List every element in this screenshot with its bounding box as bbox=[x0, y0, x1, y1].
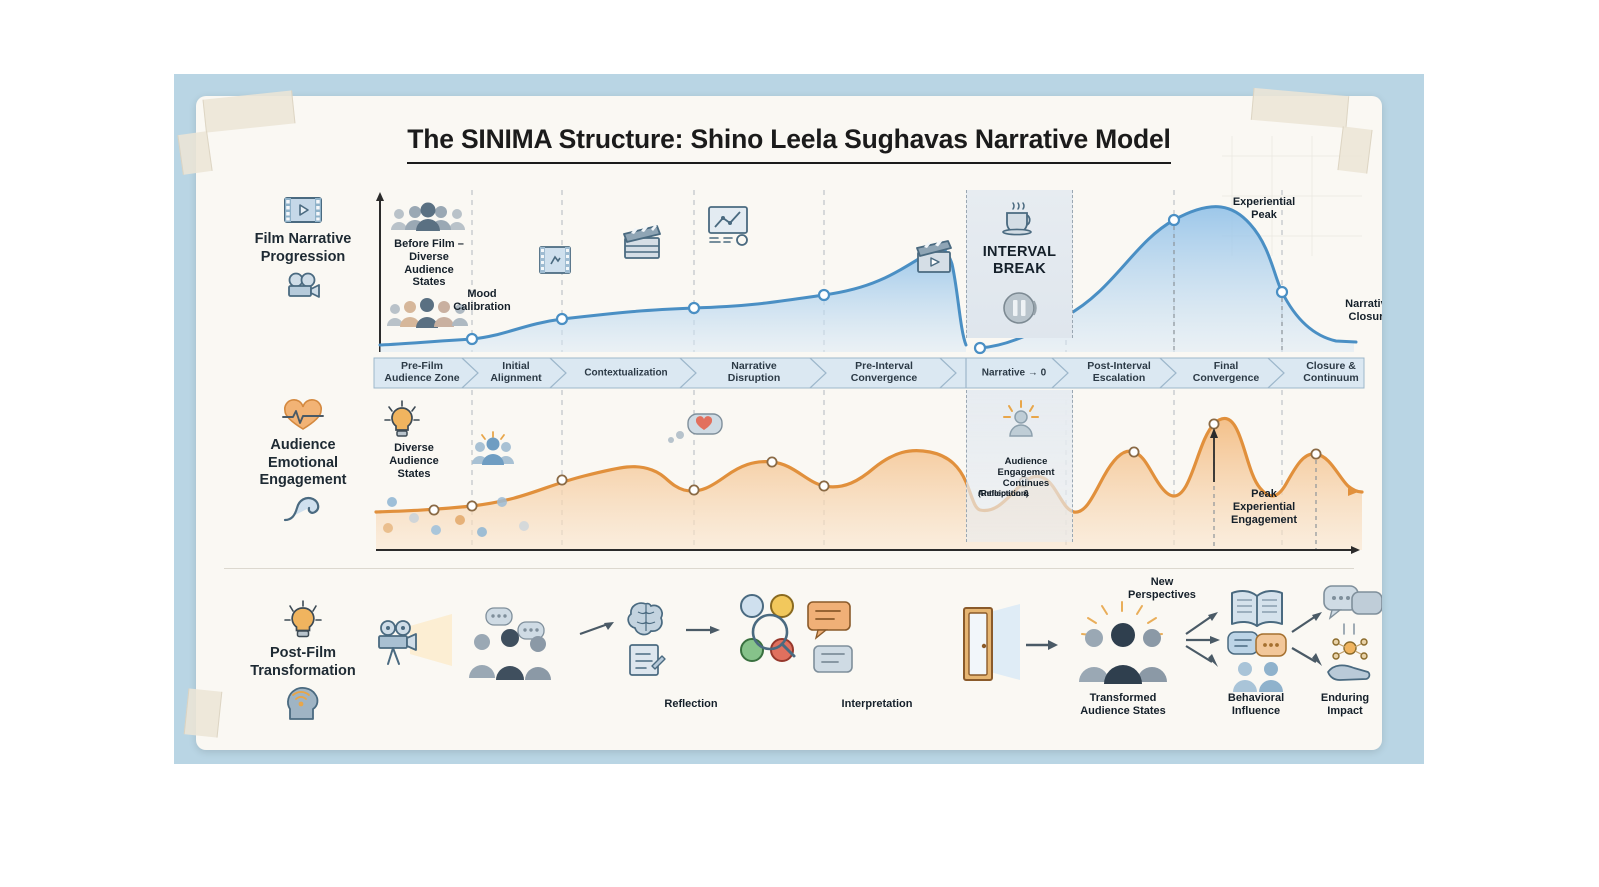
coffee-cup-icon bbox=[1000, 200, 1040, 236]
people-group-icon bbox=[389, 204, 467, 234]
reflection-label: Reflection bbox=[626, 698, 756, 711]
wave-icon bbox=[282, 495, 324, 525]
narrative-closure-annotation: Narrative Closure bbox=[1314, 298, 1382, 324]
door-icon bbox=[956, 600, 1026, 688]
chat-pair-icon bbox=[1226, 628, 1288, 660]
person-glow-icon bbox=[1002, 400, 1040, 438]
interpretation-label: Interpretation bbox=[804, 698, 950, 711]
arrow-icon bbox=[1024, 632, 1062, 658]
sidebar-film-narrative-label: Film Narrative Progression bbox=[218, 231, 388, 266]
audience-engagement-continues-annotation: Audience Engagement Continues (Reflectio… bbox=[978, 456, 1074, 489]
lightbulb-icon bbox=[384, 400, 420, 440]
phase-label-narrative-zero-1: Narrative → 0 bbox=[966, 367, 1062, 378]
row-film-narrative-progression: Film Narrative Progression bbox=[196, 176, 1382, 388]
enduring-narrative-impact-label: Enduring Narrative Impact & Personal Int… bbox=[1380, 692, 1382, 718]
interval-break-panel: INTERVAL BREAK bbox=[966, 190, 1073, 338]
hand-idea-icon bbox=[1324, 622, 1380, 684]
sidebar-post-film-transformation: Post-Film Transformation bbox=[218, 600, 388, 721]
transformed-audience-icon bbox=[1068, 602, 1178, 688]
clapperboard-play-icon bbox=[914, 238, 956, 276]
clapperboard-icon bbox=[621, 222, 665, 262]
new-perspectives-label: New Perspectives bbox=[1102, 576, 1222, 602]
sidebar-film-narrative: Film Narrative Progression bbox=[218, 194, 388, 301]
analytics-chart-icon bbox=[706, 204, 752, 246]
movie-camera-icon bbox=[283, 271, 323, 301]
masking-tape bbox=[177, 131, 212, 175]
diverse-audience-states-annotation: Diverse Audience States bbox=[364, 442, 464, 480]
row-audience-emotional-engagement: Audience Emotional Engagement bbox=[196, 382, 1382, 572]
head-waves-icon bbox=[283, 685, 323, 721]
brain-icon bbox=[624, 598, 668, 642]
interval-break-label: INTERVAL BREAK bbox=[967, 244, 1072, 278]
mood-calibration-annotation: Mood Calibration bbox=[432, 288, 532, 314]
pause-icon bbox=[1001, 290, 1039, 326]
sidebar-post-film-label: Post-Film Transformation bbox=[218, 645, 388, 680]
before-film-annotation: Before Film – Diverse Audience States bbox=[374, 238, 484, 289]
movie-projector-icon bbox=[374, 612, 454, 672]
enduring-impact-label: Enduring Impact bbox=[1290, 692, 1382, 718]
poster-paper: The SINIMA Structure: Shino Leela Sughav… bbox=[196, 96, 1382, 750]
page-title-text: The SINIMA Structure: Shino Leela Sughav… bbox=[407, 124, 1170, 164]
thought-bubble-heart-icon bbox=[666, 410, 728, 446]
film-strip-icon bbox=[283, 194, 323, 226]
audience-engagement-chart bbox=[374, 390, 1364, 555]
after-film-annotation: After Film – Transformed Audience ↓ bbox=[1366, 390, 1382, 433]
people-pair-icon bbox=[1232, 660, 1286, 694]
speech-bubble-icon bbox=[804, 598, 856, 682]
experiential-peak-annotation: Experiential Peak bbox=[1204, 196, 1324, 222]
masking-tape bbox=[184, 688, 223, 737]
lightbulb-icon bbox=[284, 600, 322, 640]
page-title: The SINIMA Structure: Shino Leela Sughav… bbox=[196, 124, 1382, 164]
audience-group-icon bbox=[470, 432, 516, 466]
discussion-group-icon bbox=[468, 606, 568, 684]
audience-engagement-curve bbox=[374, 390, 1364, 555]
arrow-icon bbox=[578, 616, 618, 644]
sidebar-audience-engagement-label: Audience Emotional Engagement bbox=[218, 437, 388, 490]
book-icon bbox=[1228, 586, 1286, 630]
sidebar-audience-engagement: Audience Emotional Engagement bbox=[218, 402, 388, 525]
masking-tape bbox=[1337, 126, 1372, 173]
arrow-fan-icon bbox=[1184, 600, 1230, 676]
speech-bubbles-icon bbox=[1322, 582, 1382, 622]
transformed-audience-label: Transformed Audience States bbox=[1048, 692, 1198, 718]
arrow-icon bbox=[684, 616, 724, 644]
film-frame-icon bbox=[538, 244, 572, 276]
row-post-film-transformation: Post-Film Transformation bbox=[196, 576, 1382, 748]
note-icon bbox=[626, 642, 666, 678]
peak-experiential-engagement-annotation: Peak Experiential Engagement bbox=[1204, 488, 1324, 526]
row-divider bbox=[224, 568, 1354, 569]
infographic-canvas: The SINIMA Structure: Shino Leela Sughav… bbox=[0, 0, 1599, 887]
heartbeat-icon bbox=[282, 402, 324, 432]
phase-label-contextualization: Contextualization bbox=[568, 367, 684, 378]
